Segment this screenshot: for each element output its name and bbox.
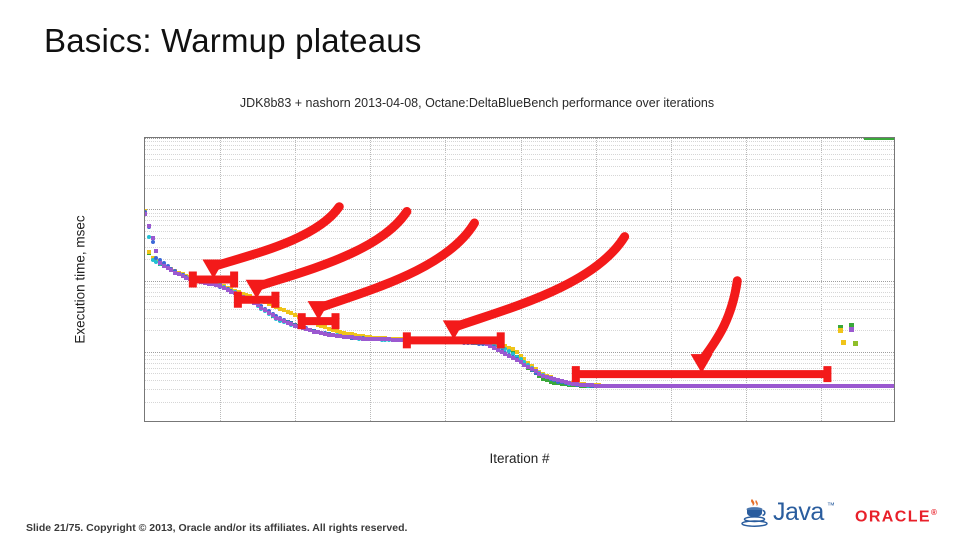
- gridline-horizontal-minor: [145, 284, 894, 285]
- gridline-horizontal-minor: [145, 330, 894, 331]
- oracle-wordmark: ORACLE: [855, 508, 931, 525]
- gridline-horizontal-minor: [145, 154, 894, 155]
- y-axis-tick: [144, 352, 145, 353]
- y-axis-minor-tick: [144, 302, 145, 303]
- outlier-point: [853, 341, 858, 346]
- y-axis-minor-tick: [144, 287, 145, 288]
- y-axis-minor-tick: [144, 149, 145, 150]
- oracle-registered: ®: [931, 508, 938, 517]
- gridline-horizontal-minor: [145, 368, 894, 369]
- gridline-horizontal-minor: [145, 402, 894, 403]
- y-axis-minor-tick: [144, 238, 145, 239]
- gridline-vertical: [445, 138, 446, 421]
- gridline-horizontal-minor: [145, 220, 894, 221]
- gridline-horizontal-minor: [145, 216, 894, 217]
- y-axis-tick: [144, 281, 145, 282]
- gridline-horizontal-major: [145, 352, 894, 353]
- data-point: [894, 137, 895, 140]
- outlier-point: [838, 328, 843, 333]
- gridline-horizontal-major: [145, 138, 894, 139]
- data-point: [894, 384, 895, 388]
- gridline-vertical: [370, 138, 371, 421]
- gridline-horizontal-minor: [145, 247, 894, 248]
- x-axis-tick: [521, 421, 522, 422]
- y-axis-minor-tick: [144, 318, 145, 319]
- chart-figure: JDK8b83 + nashorn 2013-04-08, Octane:Del…: [0, 96, 954, 486]
- gridline-horizontal-major: [145, 209, 894, 210]
- data-point: [151, 236, 155, 240]
- gridline-horizontal-minor: [145, 380, 894, 381]
- gridline-horizontal-major: [145, 281, 894, 282]
- x-axis-tick: [220, 421, 221, 422]
- x-axis-tick: [295, 421, 296, 422]
- y-axis-minor-tick: [144, 216, 145, 217]
- y-axis-minor-tick: [144, 402, 145, 403]
- y-axis-tick: [144, 138, 145, 139]
- gridline-vertical: [821, 138, 822, 421]
- x-axis-tick: [596, 421, 597, 422]
- x-axis-tick: [746, 421, 747, 422]
- data-point: [144, 212, 147, 216]
- gridline-horizontal-minor: [145, 225, 894, 226]
- y-axis-minor-tick: [144, 373, 145, 374]
- page-title: Basics: Warmup plateaus: [44, 22, 422, 60]
- x-axis-tick: [821, 421, 822, 422]
- y-axis-minor-tick: [144, 145, 145, 146]
- gridline-horizontal-minor: [145, 373, 894, 374]
- y-axis-minor-tick: [144, 159, 145, 160]
- gridline-horizontal-minor: [145, 141, 894, 142]
- gridline-horizontal-minor: [145, 231, 894, 232]
- gridline-vertical: [671, 138, 672, 421]
- y-axis-minor-tick: [144, 154, 145, 155]
- gridline-vertical: [521, 138, 522, 421]
- y-axis-minor-tick: [144, 359, 145, 360]
- chart-title: JDK8b83 + nashorn 2013-04-08, Octane:Del…: [0, 96, 954, 110]
- y-axis-minor-tick: [144, 225, 145, 226]
- y-axis-title-label: Execution time, msec: [73, 215, 88, 343]
- y-axis-minor-tick: [144, 141, 145, 142]
- plot-area: 1101001000100000204060801001201401601802…: [144, 137, 895, 422]
- y-axis-minor-tick: [144, 380, 145, 381]
- x-axis-title: Iteration #: [144, 451, 895, 466]
- gridline-horizontal-minor: [145, 149, 894, 150]
- y-axis-minor-tick: [144, 292, 145, 293]
- slide: Basics: Warmup plateaus JDK8b83 + nashor…: [0, 0, 954, 543]
- x-axis-tick: [145, 421, 146, 422]
- gridline-vertical: [596, 138, 597, 421]
- y-axis-minor-tick: [144, 188, 145, 189]
- outlier-point: [849, 327, 854, 332]
- y-axis-minor-tick: [144, 284, 145, 285]
- java-cup-icon: [740, 495, 770, 529]
- y-axis-minor-tick: [144, 259, 145, 260]
- data-point: [894, 384, 895, 388]
- y-axis-minor-tick: [144, 220, 145, 221]
- gridline-horizontal-minor: [145, 287, 894, 288]
- oracle-logo: ORACLE®: [855, 508, 938, 526]
- y-axis-minor-tick: [144, 296, 145, 297]
- outlier-point: [841, 340, 846, 345]
- data-point: [154, 249, 158, 253]
- y-axis-minor-tick: [144, 231, 145, 232]
- y-axis-minor-tick: [144, 247, 145, 248]
- data-point: [147, 250, 151, 254]
- x-axis-tick: [370, 421, 371, 422]
- y-axis-minor-tick: [144, 175, 145, 176]
- gridline-vertical: [295, 138, 296, 421]
- gridline-horizontal-minor: [145, 145, 894, 146]
- gridline-horizontal-minor: [145, 166, 894, 167]
- y-axis-minor-tick: [144, 368, 145, 369]
- java-wordmark: Java: [773, 498, 824, 527]
- gridline-vertical: [220, 138, 221, 421]
- grid-layer: [145, 138, 894, 421]
- gridline-horizontal-minor: [145, 175, 894, 176]
- gridline-vertical: [746, 138, 747, 421]
- gridline-horizontal-minor: [145, 292, 894, 293]
- gridline-horizontal-minor: [145, 159, 894, 160]
- gridline-horizontal-minor: [145, 188, 894, 189]
- gridline-horizontal-minor: [145, 309, 894, 310]
- footer-copyright: Slide 21/75. Copyright © 2013, Oracle an…: [26, 522, 407, 534]
- x-axis-tick: [445, 421, 446, 422]
- y-axis-minor-tick: [144, 355, 145, 356]
- gridline-horizontal-minor: [145, 238, 894, 239]
- y-axis-minor-tick: [144, 363, 145, 364]
- java-logo: Java ™: [740, 495, 835, 529]
- y-axis-minor-tick: [144, 309, 145, 310]
- y-axis-title: Execution time, msec: [70, 137, 90, 422]
- gridline-horizontal-minor: [145, 259, 894, 260]
- java-trademark: ™: [827, 501, 835, 510]
- y-axis-minor-tick: [144, 166, 145, 167]
- data-point: [147, 224, 151, 228]
- gridline-horizontal-minor: [145, 213, 894, 214]
- y-axis-minor-tick: [144, 330, 145, 331]
- x-axis-tick: [671, 421, 672, 422]
- gridline-horizontal-minor: [145, 389, 894, 390]
- y-axis-minor-tick: [144, 389, 145, 390]
- gridline-horizontal-minor: [145, 318, 894, 319]
